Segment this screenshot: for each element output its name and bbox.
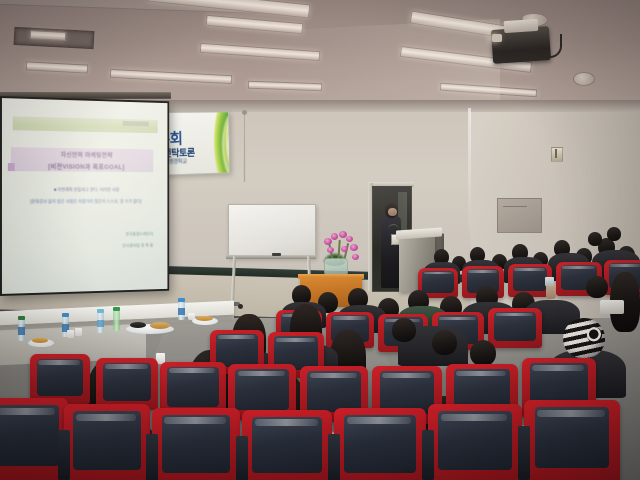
whiteboard-caster xyxy=(238,304,243,309)
seat-armrest xyxy=(518,426,530,480)
auditorium-seat[interactable] xyxy=(152,408,240,480)
lecture-hall-photo: 수회 구전탁토론 금 한맹경학교 자신만의 마케팅전략 [비전VISION과 목… xyxy=(0,0,640,480)
water-bottle-cap xyxy=(62,313,69,317)
orchid-bloom xyxy=(350,244,358,251)
audience-head xyxy=(432,330,457,355)
orchid-bloom xyxy=(331,233,338,240)
auditorium-seat[interactable] xyxy=(428,404,522,480)
mobile-phone[interactable] xyxy=(545,277,554,286)
audience-head xyxy=(607,227,621,241)
ceiling-light-fixture xyxy=(30,30,66,41)
auditorium-seat[interactable] xyxy=(524,400,620,480)
ceiling-light-fixture xyxy=(110,69,232,84)
wall-fixture-slot xyxy=(555,149,557,158)
banner-chevron-highlight xyxy=(189,116,230,176)
orchid-bloom xyxy=(324,238,332,245)
slide-footer-line-2: 인사관리팀 정 복 중 xyxy=(122,243,153,249)
water-bottle-label xyxy=(18,327,25,335)
slide-body-line-2: [문화감사 없지 않은 사람은 자랑거리 많은지 스스로, 알 수가 없다] xyxy=(5,199,164,205)
audience-head xyxy=(392,318,416,342)
wall-access-panel-seam xyxy=(503,206,527,207)
seat-armrest xyxy=(236,436,248,480)
projector-top-panel xyxy=(504,19,539,33)
water-bottle-cap xyxy=(178,298,185,302)
ceiling-smoke-detector xyxy=(573,72,595,86)
projection-screen[interactable]: 자신만의 마케팅전략 [비전VISION과 목표GOAL] ■ 지면계획 만들자… xyxy=(0,96,169,296)
ceiling-light-fixture xyxy=(206,15,304,34)
whiteboard-marker-tray xyxy=(226,255,316,259)
auditorium-seat[interactable] xyxy=(64,404,150,480)
beanie-swirl-pattern xyxy=(587,327,602,343)
water-bottle-label xyxy=(178,308,185,315)
water-bottle[interactable] xyxy=(113,310,120,331)
auditorium-seat[interactable] xyxy=(242,410,332,480)
ceiling-light-fixture xyxy=(26,61,88,73)
striped-beanie xyxy=(563,318,605,358)
water-bottle-cap xyxy=(97,309,104,313)
water-bottle-cap xyxy=(18,316,25,320)
auditorium-seat[interactable] xyxy=(96,358,158,410)
auditorium-seat[interactable] xyxy=(334,408,426,480)
slide-title-line-2: [비전VISION과 목표GOAL] xyxy=(2,160,167,171)
slide-header-tag xyxy=(123,121,149,127)
banner-cord-anchor xyxy=(242,110,247,115)
ceiling-light-fixture xyxy=(440,83,537,98)
paper-cup[interactable] xyxy=(67,330,74,338)
audience-paper-handout[interactable] xyxy=(600,300,624,314)
snack-food xyxy=(130,322,146,328)
audience-head xyxy=(588,232,602,246)
orchid-bloom xyxy=(327,247,334,253)
auditorium-seat[interactable] xyxy=(488,308,542,348)
audience-head xyxy=(470,340,496,366)
auditorium-seat[interactable] xyxy=(30,354,90,404)
audience-head xyxy=(586,276,608,298)
ceiling-light-fixture xyxy=(248,81,322,92)
snack-food xyxy=(196,316,213,321)
orchid-bloom xyxy=(346,236,353,242)
snack-food xyxy=(32,338,48,343)
projection-screen-surface: 자신만의 마케팅전략 [비전VISION과 목표GOAL] ■ 지면계획 만들자… xyxy=(2,98,167,294)
banner-hanging-cord xyxy=(243,112,246,182)
wall-access-panel xyxy=(497,198,542,233)
slide-footer-line-1: 한국품질드레인사 xyxy=(126,231,154,237)
slide-body-line-1: ■ 지면계획 만들자고 한다. 이러한 사람 xyxy=(5,187,164,193)
mobile-whiteboard[interactable] xyxy=(228,204,316,258)
seat-armrest xyxy=(146,434,158,480)
presenter-face xyxy=(388,208,397,216)
orchid-bloom xyxy=(341,246,348,252)
projector-lens-icon xyxy=(492,34,502,42)
water-bottle-cap xyxy=(113,307,120,311)
water-bottle-label xyxy=(97,320,104,327)
wall-mounted-fixture xyxy=(551,147,563,162)
whiteboard-marker[interactable] xyxy=(272,253,281,256)
orchid-bloom xyxy=(352,254,359,260)
paper-cup[interactable] xyxy=(75,328,82,336)
ceiling-light-fixture xyxy=(200,43,320,61)
snack-food xyxy=(150,322,170,329)
seat-armrest xyxy=(58,430,70,480)
seat-armrest xyxy=(328,434,340,480)
seat-armrest xyxy=(422,430,434,480)
